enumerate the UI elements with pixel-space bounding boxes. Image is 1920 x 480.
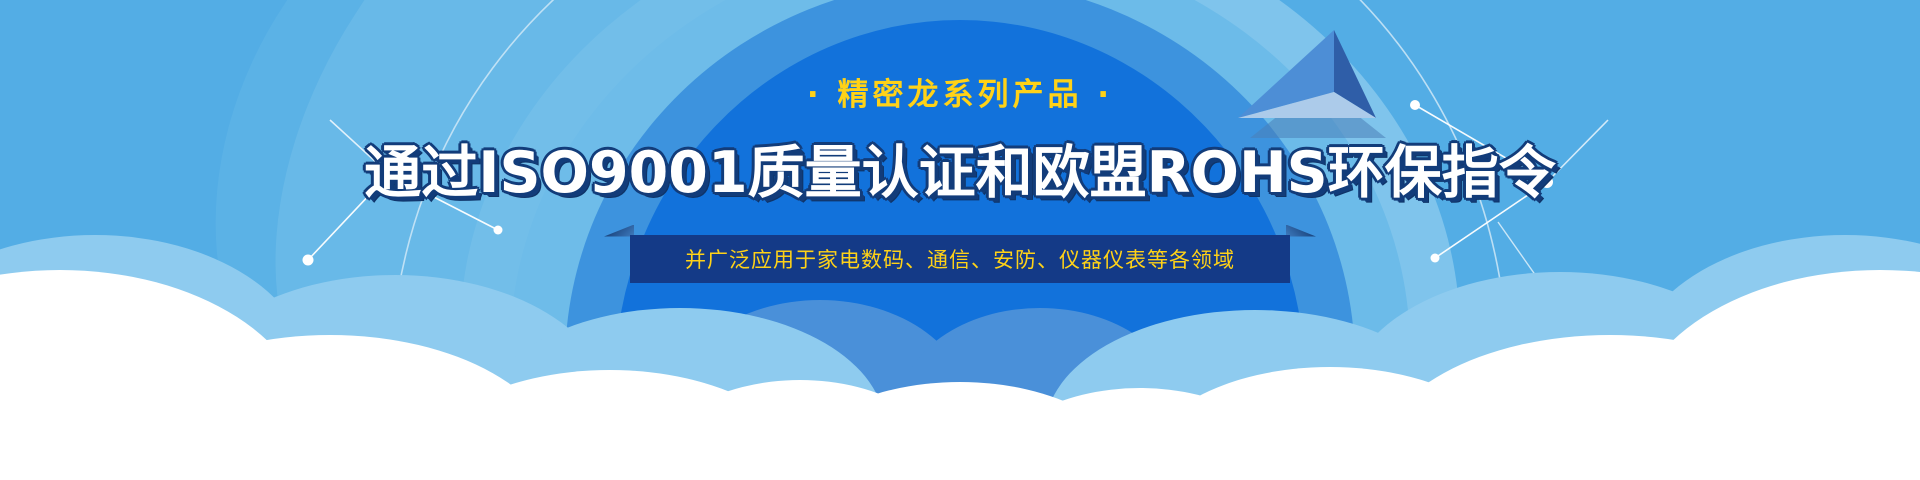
cloud-layer <box>0 180 1920 480</box>
promo-banner: · 精密龙系列产品 · 通过ISO9001质量认证和欧盟ROHS环保指令 并广泛… <box>0 0 1920 480</box>
pyramid-logo <box>1226 22 1386 142</box>
